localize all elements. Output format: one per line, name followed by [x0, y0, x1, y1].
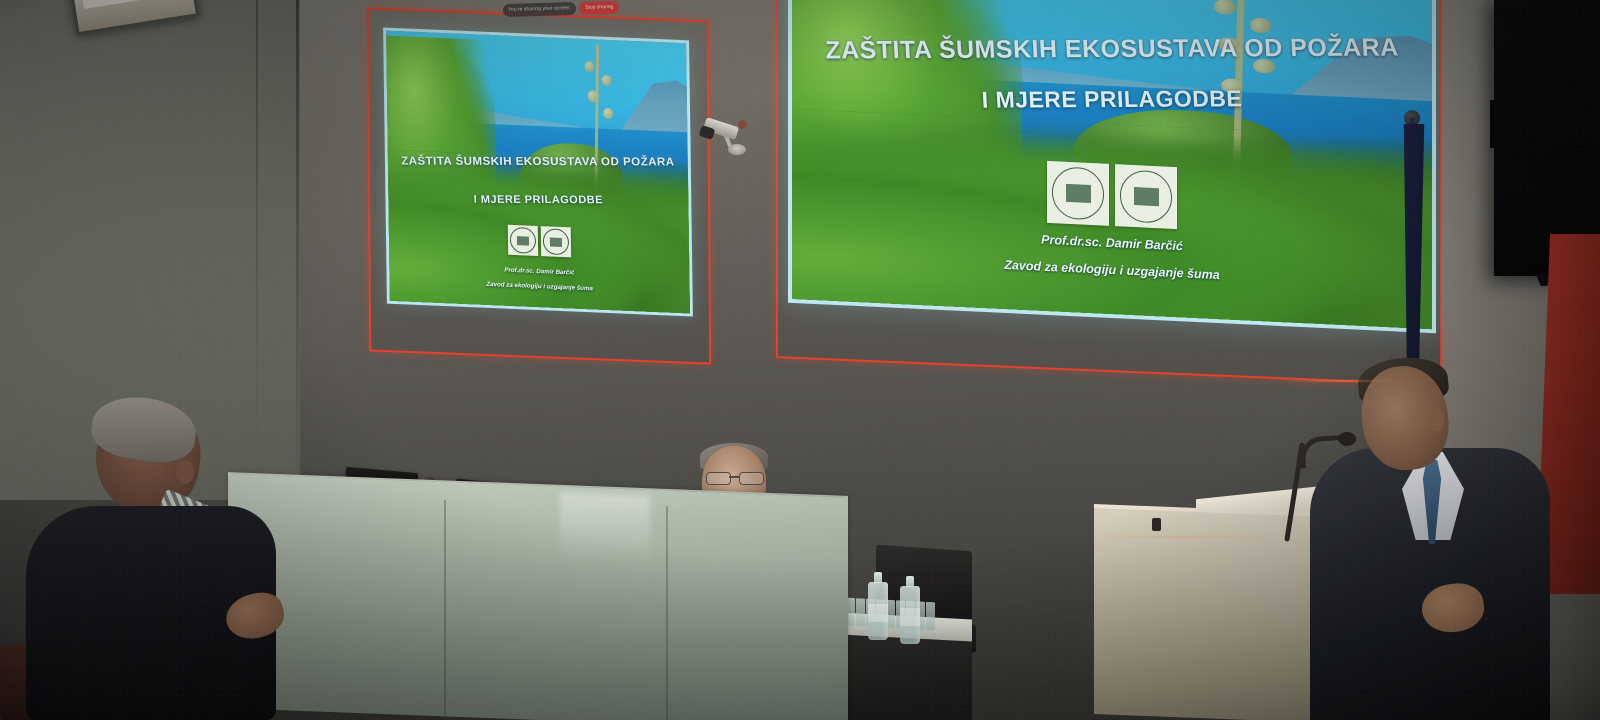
agave-bud: [1250, 18, 1272, 33]
panel-desk-seam: [444, 500, 446, 720]
slide-title-line1: ZAŠTITA ŠUMSKIH EKOSUSTAVA OD POŽARA: [792, 33, 1433, 65]
university-seal-logo: [1047, 161, 1109, 226]
slide-title-line1: ZAŠTITA ŠUMSKIH EKOSUSTAVA OD POŽARA: [388, 155, 688, 168]
water-glass: [856, 598, 865, 626]
agave-bud: [588, 90, 598, 102]
stop-sharing-button[interactable]: Stop sharing: [579, 1, 619, 15]
university-seal-logo: [507, 225, 537, 256]
bottle-label: [868, 604, 888, 622]
agave-bud: [584, 61, 594, 73]
panel-desk-glare: [560, 492, 650, 565]
camera-mount: [728, 144, 746, 155]
ear: [176, 460, 194, 484]
sharing-status-label: You're sharing your screen.: [503, 2, 577, 17]
agave-bud: [603, 107, 613, 119]
ear: [1428, 408, 1444, 432]
water-glass: [926, 602, 935, 630]
right-slide: ZAŠTITA ŠUMSKIH EKOSUSTAVA OD POŽARA I M…: [788, 0, 1436, 333]
light-streak: [1090, 536, 1270, 538]
left-slide: ZAŠTITA ŠUMSKIH EKOSUSTAVA OD POŽARA I M…: [383, 27, 693, 316]
audience-member-foreground: [8, 398, 298, 720]
panel-desk-seam: [666, 506, 668, 720]
bottle-label: [900, 608, 920, 626]
wall-camera: [700, 118, 752, 158]
water-bottle: [868, 582, 888, 640]
speaker-at-podium: [1316, 348, 1566, 720]
panel-desk: [228, 474, 848, 720]
lectern-clip: [1152, 518, 1161, 531]
water-glasses: [846, 598, 936, 633]
wall-seam: [256, 0, 258, 460]
conference-hall-screenshot: ZAŠTITA ŠUMSKIH EKOSUSTAVA OD POŽARA I M…: [0, 0, 1600, 720]
faculty-seal-logo: [1115, 165, 1177, 230]
slide-title-line2: I MJERE PRILAGODBE: [388, 193, 688, 206]
water-bottle: [900, 586, 920, 644]
agave-bud: [1214, 0, 1236, 15]
eyeglasses: [706, 472, 762, 483]
faculty-seal-logo: [540, 226, 570, 257]
camera-knob: [738, 120, 747, 129]
light-streak: [1280, 380, 1400, 382]
slide-title-line2: I MJERE PRILAGODBE: [792, 84, 1433, 114]
